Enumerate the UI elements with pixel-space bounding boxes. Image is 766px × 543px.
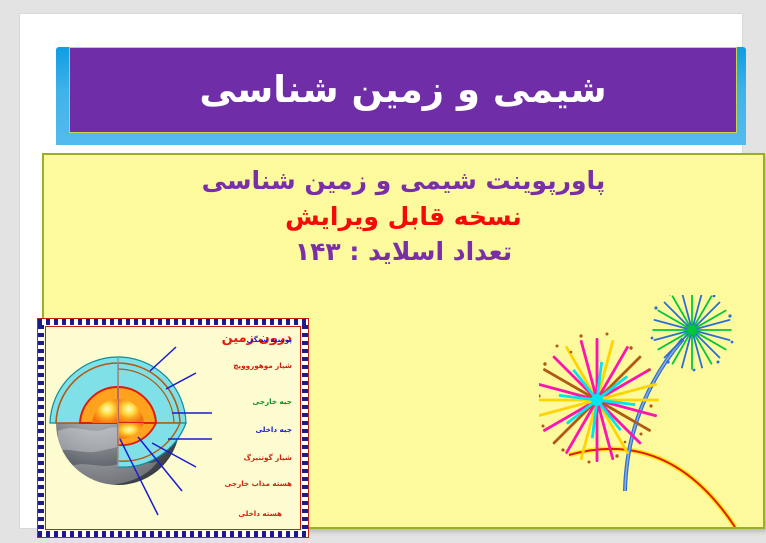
slide-canvas: شیمی و زمین شناسی پاورپوینت شیمی و زمین … [20, 14, 742, 528]
headline-line-slide-count: تعداد اسلاید : ۱۴۳ [44, 234, 763, 270]
earth-label-moho: شیار موهوروویچ [233, 361, 292, 370]
earth-label-outer-core: هسته مذاب خارجی [225, 479, 292, 488]
earth-figure: درون زمین [37, 318, 309, 538]
headline-line-title: پاورپوینت شیمی و زمین شناسی [44, 163, 763, 199]
screenshot-root: شیمی و زمین شناسی پاورپوینت شیمی و زمین … [0, 0, 766, 543]
firework-burst-left [539, 333, 659, 464]
earth-label-outer-mantle: جبه خارجی [253, 397, 292, 406]
headline-line-editable: نسخه قابل ویرایش [44, 199, 763, 235]
firework-burst-right [651, 295, 734, 371]
headline-block: پاورپوینت شیمی و زمین شناسی نسخه قابل وی… [44, 163, 763, 270]
slide-title: شیمی و زمین شناسی [199, 70, 606, 111]
earth-label-inner-core: هسته داخلی [238, 509, 282, 518]
title-banner-purple: شیمی و زمین شناسی [69, 47, 737, 133]
fireworks-artwork [539, 295, 761, 531]
earth-label-crust: پوسته سنگی [246, 335, 292, 344]
earth-label-inner-mantle: جبه داخلی [255, 425, 292, 434]
earth-figure-inner: درون زمین [45, 326, 301, 530]
earth-label-gutenberg: شیار گوتنبرگ [244, 453, 292, 462]
